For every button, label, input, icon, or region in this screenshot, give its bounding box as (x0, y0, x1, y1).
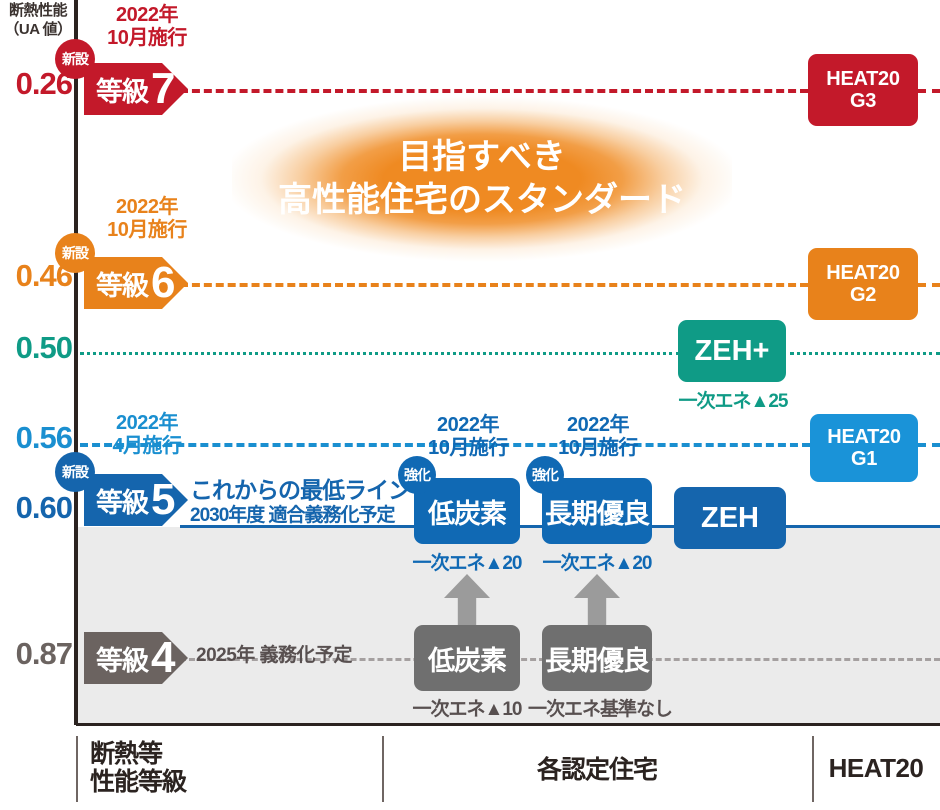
grade4-word: 等級 (96, 639, 148, 678)
grade6-word: 等級 (96, 264, 148, 303)
chokiyuryo-old-caption: 一次エネ基準なし (520, 694, 680, 721)
cert-box-zeh-plus[interactable]: ZEH+ (678, 320, 786, 382)
chokiyuryo-enhanced-caption: 一次エネ▲20 (524, 548, 670, 575)
grade6-new-tag: 新設 (55, 233, 95, 273)
teitanso-old-caption: 一次エネ▲10 (394, 694, 540, 721)
axis-caption-line2: （UA 値） (2, 21, 74, 39)
grade5-effective-date: 2022年 4月施行 (82, 412, 212, 457)
highlight-glow: 目指すべき 高性能住宅のスタンダード (232, 96, 732, 262)
grade4-number: 4 (151, 640, 173, 675)
reference-line-grade6 (180, 283, 808, 287)
cert-box-teitanso-old[interactable]: 低炭素 (414, 625, 520, 691)
footer-col1-line2: 性能等級 (90, 768, 186, 796)
heat20-g2-line1: HEAT20 (826, 262, 899, 284)
heat20-g2-box[interactable]: HEAT20 G2 (808, 248, 918, 320)
footer-column-certifications: 各認定住宅 (382, 726, 812, 810)
teitanso-effective-date: 2022年 10月施行 (400, 414, 536, 459)
highlight-line2: 高性能住宅のスタンダード (278, 181, 686, 220)
grade5-effective-line1: 2022年 (82, 412, 212, 434)
chokiyuryo-enhanced-tag: 強化 (526, 456, 564, 494)
heat20-g3-line2: G3 (850, 90, 876, 112)
cert-box-teitanso-old-label: 低炭素 (428, 639, 506, 678)
footer-separator-3 (812, 736, 814, 802)
vertical-axis (74, 0, 78, 725)
axis-caption: 断熱性能 （UA 値） (2, 2, 74, 38)
axis-caption-line1: 断熱性能 (2, 2, 74, 20)
grade5-effective-line2: 4月施行 (82, 435, 212, 457)
footer-column-grades-text: 断熱等 性能等級 (90, 740, 186, 796)
heat20-g1-box[interactable]: HEAT20 G1 (810, 414, 918, 482)
teitanso-enhanced-tag: 強化 (398, 456, 436, 494)
reference-line-grade6-right (918, 283, 940, 287)
grade6-effective-line1: 2022年 (82, 196, 212, 218)
footer-separator-2 (382, 736, 384, 802)
reference-line-heat20-g1-right (918, 443, 940, 447)
grade5-number: 5 (151, 482, 173, 517)
highlight-line1: 目指すべき (398, 138, 566, 177)
ua-value-0-56: 0.56 (0, 420, 72, 456)
chokiyuryo-effective-line1: 2022年 (530, 414, 666, 436)
footer-col2-text: 各認定住宅 (537, 750, 657, 786)
grade-badge-5[interactable]: 等級 5 (84, 474, 188, 526)
grade7-new-tag-label: 新設 (62, 52, 88, 66)
grade7-new-tag: 新設 (55, 39, 95, 79)
heat20-g3-box[interactable]: HEAT20 G3 (808, 54, 918, 126)
footer-col1-line1: 断熱等 (90, 740, 186, 768)
cert-box-zeh-label: ZEH (701, 502, 759, 535)
ua-value-0-60: 0.60 (0, 490, 72, 526)
infographic-root: 目指すべき 高性能住宅のスタンダード 断熱性能 （UA 値） 0.26 0.46… (0, 0, 940, 810)
footer-column-heat20: HEAT20 (812, 726, 940, 810)
cert-box-zeh-plus-label: ZEH+ (695, 335, 770, 368)
cert-box-chokiyuryo-label: 長期優良 (545, 492, 649, 531)
cert-box-teitanso-label: 低炭素 (428, 492, 506, 531)
grade4-note: 2025年 義務化予定 (196, 640, 352, 667)
grade5-word: 等級 (96, 481, 148, 520)
grade5-note: これからの最低ライン 2030年度 適合義務化予定 (190, 478, 410, 526)
cert-box-chokiyuryo-old-label: 長期優良 (545, 639, 649, 678)
teitanso-effective-line1: 2022年 (400, 414, 536, 436)
reference-line-grade7-right (918, 89, 940, 93)
footer-column-grades: 断熱等 性能等級 (76, 726, 382, 810)
grade-badge-6[interactable]: 等級 6 (84, 257, 188, 309)
heat20-g2-line2: G2 (850, 284, 876, 306)
grade7-effective-date: 2022年 10月施行 (82, 4, 212, 49)
heat20-g1-line1: HEAT20 (827, 426, 900, 448)
reference-line-grade7 (180, 89, 808, 93)
grade5-note-line2: 2030年度 適合義務化予定 (190, 505, 410, 526)
reference-line-zeh-plus-right (790, 352, 940, 355)
grade5-note-line1: これからの最低ライン (190, 478, 410, 504)
chokiyuryo-effective-date: 2022年 10月施行 (530, 414, 666, 459)
grade7-word: 等級 (96, 70, 148, 109)
footer-separator-1 (76, 736, 78, 802)
reference-line-zeh-plus (80, 352, 680, 355)
grade-badge-7[interactable]: 等級 7 (84, 63, 188, 115)
heat20-g1-line2: G1 (851, 448, 877, 470)
grade7-effective-line2: 10月施行 (82, 27, 212, 49)
cert-box-chokiyuryo-old[interactable]: 長期優良 (542, 625, 652, 691)
grade6-new-tag-label: 新設 (62, 246, 88, 260)
footer-col3-text: HEAT20 (829, 753, 924, 784)
zeh-plus-caption: 一次エネ▲25 (660, 386, 806, 413)
ua-value-0-50: 0.50 (0, 330, 72, 366)
heat20-g3-line1: HEAT20 (826, 68, 899, 90)
teitanso-enhanced-tag-label: 強化 (404, 468, 430, 482)
chokiyuryo-enhanced-tag-label: 強化 (532, 468, 558, 482)
footer: 断熱等 性能等級 各認定住宅 HEAT20 (76, 726, 940, 810)
grade7-number: 7 (151, 71, 173, 106)
grade7-effective-line1: 2022年 (82, 4, 212, 26)
chokiyuryo-effective-line2: 10月施行 (530, 437, 666, 459)
cert-box-zeh[interactable]: ZEH (674, 487, 786, 549)
grade6-number: 6 (151, 265, 173, 300)
ua-value-0-87: 0.87 (0, 636, 72, 672)
grade5-new-tag-label: 新設 (62, 465, 88, 479)
grade6-effective-date: 2022年 10月施行 (82, 196, 212, 241)
grade5-new-tag: 新設 (55, 452, 95, 492)
teitanso-enhanced-caption: 一次エネ▲20 (394, 548, 540, 575)
grade6-effective-line2: 10月施行 (82, 219, 212, 241)
